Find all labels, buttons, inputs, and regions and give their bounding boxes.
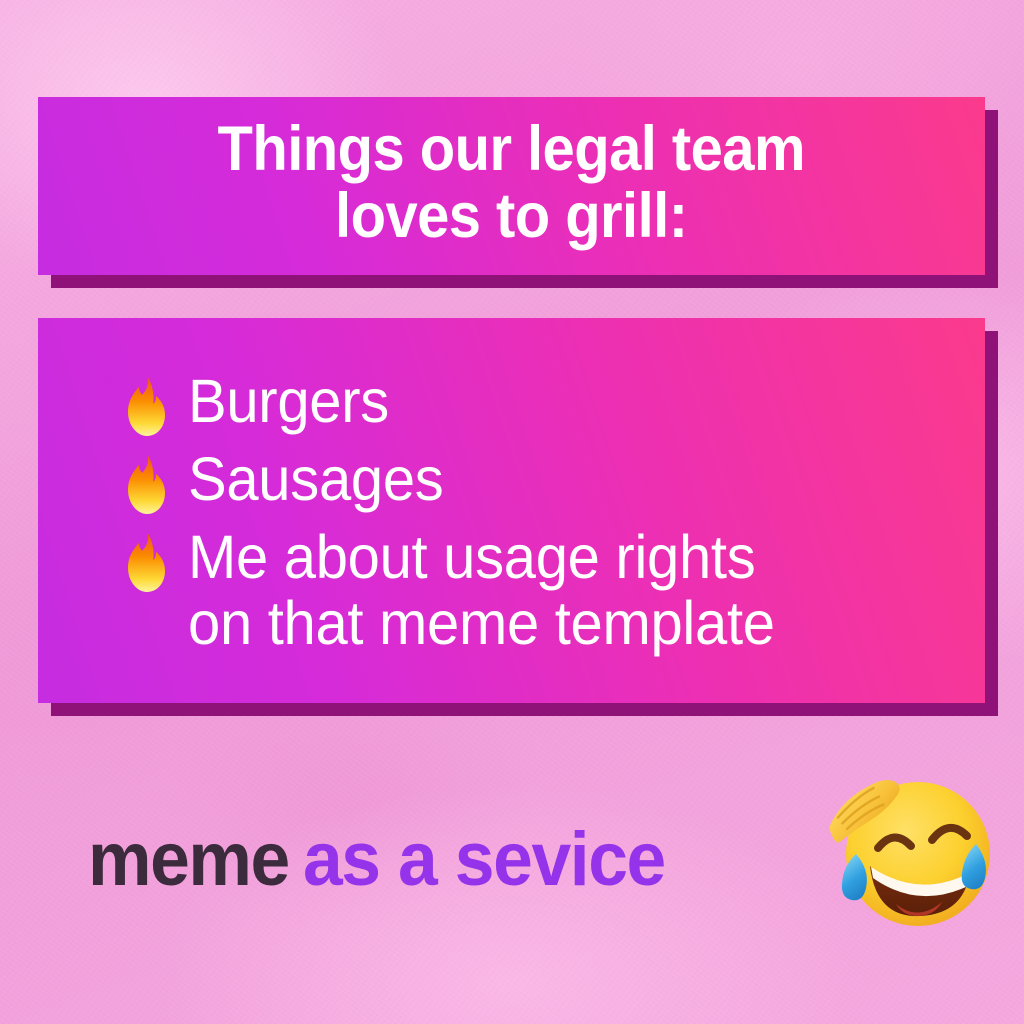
- title-card: Things our legal team loves to grill:: [38, 97, 985, 275]
- brand-secondary-text: as a sevice: [303, 817, 665, 902]
- face-with-tears-of-joy-saluting-icon: [826, 762, 1002, 938]
- list-card: Burgers Sausages: [38, 318, 985, 703]
- meme-image: Things our legal team loves to grill:: [0, 0, 1024, 1024]
- title-text: Things our legal team loves to grill:: [218, 116, 805, 251]
- fire-icon: [122, 375, 170, 439]
- list-item: Burgers: [122, 369, 957, 439]
- brand-wordmark: memeas a sevice: [88, 822, 665, 898]
- list-item-label: Sausages: [188, 447, 443, 512]
- brand-primary-text: meme: [88, 817, 289, 902]
- fire-icon: [122, 453, 170, 517]
- fire-icon: [122, 531, 170, 595]
- list-item-label: Burgers: [188, 369, 389, 434]
- list-item-label: Me about usage rights on that meme templ…: [188, 525, 775, 656]
- list-item: Me about usage rights on that meme templ…: [122, 525, 957, 656]
- list-item: Sausages: [122, 447, 957, 517]
